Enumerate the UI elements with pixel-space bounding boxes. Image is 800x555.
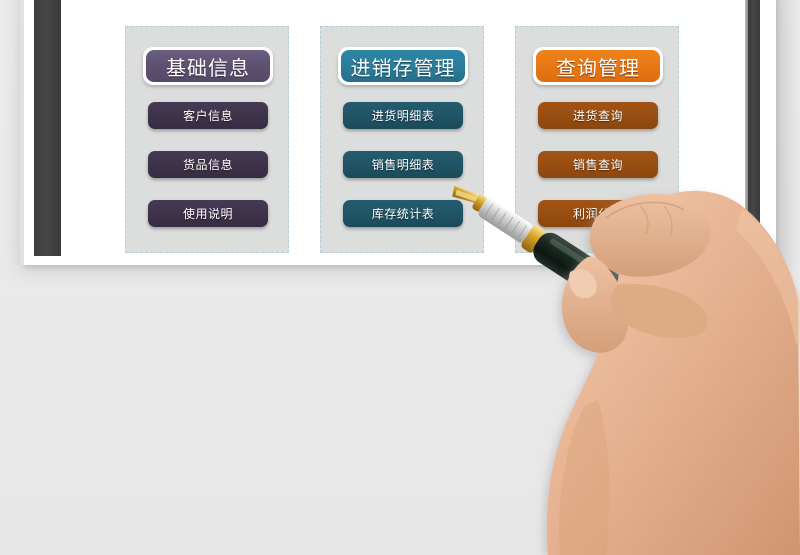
menu-button-customer-info[interactable]: 客户信息: [148, 102, 268, 129]
menu-button-label: 销售明细表: [372, 156, 435, 173]
menu-button-label: 利润分析: [573, 205, 623, 222]
menu-button-label: 进货查询: [573, 107, 623, 124]
panel-header-label: 查询管理: [536, 50, 660, 82]
menu-button-label: 进货明细表: [372, 107, 435, 124]
screen-background: 基础信息 客户信息 货品信息 使用说明 进销存管理 进货明细表 销售明细表: [0, 0, 800, 555]
menu-button-label: 客户信息: [183, 107, 233, 124]
menu-button-stock-statistics[interactable]: 库存统计表: [343, 200, 463, 227]
menu-button-label: 库存统计表: [372, 205, 435, 222]
menu-button-profit-analysis[interactable]: 利润分析: [538, 200, 658, 227]
menu-button-goods-info[interactable]: 货品信息: [148, 151, 268, 178]
menu-button-purchase-query[interactable]: 进货查询: [538, 102, 658, 129]
menu-button-label: 使用说明: [183, 205, 233, 222]
menu-button-sales-query[interactable]: 销售查询: [538, 151, 658, 178]
menu-button-label: 销售查询: [573, 156, 623, 173]
panel-header-query-management[interactable]: 查询管理: [533, 47, 663, 85]
menu-button-instructions[interactable]: 使用说明: [148, 200, 268, 227]
panel-header-inventory-management[interactable]: 进销存管理: [338, 47, 468, 85]
menu-panels: 基础信息 客户信息 货品信息 使用说明 进销存管理 进货明细表 销售明细表: [0, 0, 800, 281]
panel-basic-info: 基础信息 客户信息 货品信息 使用说明: [125, 26, 289, 253]
menu-button-purchase-detail[interactable]: 进货明细表: [343, 102, 463, 129]
panel-header-label: 基础信息: [146, 50, 270, 82]
panel-inventory-management: 进销存管理 进货明细表 销售明细表 库存统计表: [320, 26, 484, 253]
panel-header-basic-info[interactable]: 基础信息: [143, 47, 273, 85]
menu-button-label: 货品信息: [183, 156, 233, 173]
middle-finger: [611, 284, 708, 338]
panel-header-label: 进销存管理: [341, 50, 465, 82]
menu-button-sales-detail[interactable]: 销售明细表: [343, 151, 463, 178]
panel-query-management: 查询管理 进货查询 销售查询 利润分析: [515, 26, 679, 253]
